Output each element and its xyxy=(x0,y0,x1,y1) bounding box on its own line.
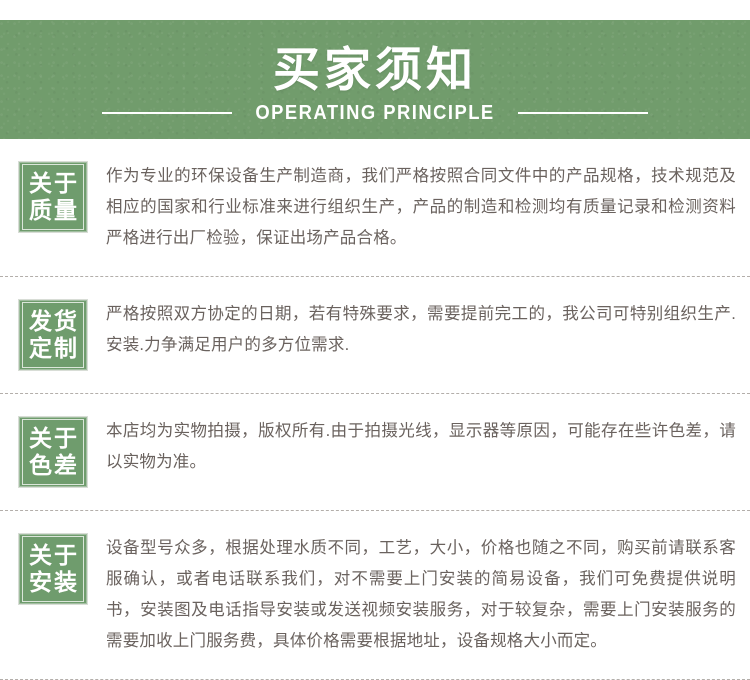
notice-text-quality: 作为专业的环保设备生产制造商，我们严格按照合同文件中的产品规格，技术规范及相应的… xyxy=(88,161,736,254)
badge-label-line2: 色差 xyxy=(27,452,79,479)
notice-row-installation: 关于 安装 设备型号众多，根据处理水质不同，工艺，大小，价格也随之不同，购买前请… xyxy=(0,533,750,657)
spacer-after-row-1 xyxy=(0,254,750,276)
badge-label-line1: 关于 xyxy=(27,425,79,452)
subtitle-rule-right xyxy=(518,112,648,114)
notice-row-color: 关于 色差 本店均为实物拍摄，版权所有.由于拍摄光线，显示器等原因，可能存在些许… xyxy=(0,416,750,488)
badge-quality: 关于 质量 xyxy=(18,161,88,233)
notice-row-quality: 关于 质量 作为专业的环保设备生产制造商，我们严格按照合同文件中的产品规格，技术… xyxy=(0,161,750,254)
spacer-after-row-2 xyxy=(0,371,750,393)
badge-inner-color: 关于 色差 xyxy=(22,419,84,485)
notice-text-delivery: 严格按照双方协定的日期，若有特殊要求，需要提前完工的，我公司可特别组织生产.安装… xyxy=(88,299,736,361)
badge-installation: 关于 安装 xyxy=(18,533,88,605)
spacer-before-row-2 xyxy=(0,277,750,299)
badge-label-line2: 定制 xyxy=(27,335,79,362)
banner-subtitle: OPERATING PRINCIPLE xyxy=(255,101,494,125)
banner-subtitle-group: OPERATING PRINCIPLE xyxy=(0,101,750,125)
subtitle-rule-left xyxy=(102,112,232,114)
badge-delivery: 发货 定制 xyxy=(18,299,88,371)
header-banner: 买家须知 OPERATING PRINCIPLE xyxy=(0,20,750,139)
notice-sections: 关于 质量 作为专业的环保设备生产制造商，我们严格按照合同文件中的产品规格，技术… xyxy=(0,139,750,680)
spacer-after-row-3 xyxy=(0,488,750,510)
badge-color: 关于 色差 xyxy=(18,416,88,488)
badge-inner-delivery: 发货 定制 xyxy=(22,302,84,368)
notice-row-delivery: 发货 定制 严格按照双方协定的日期，若有特殊要求，需要提前完工的，我公司可特别组… xyxy=(0,299,750,371)
badge-label-line1: 关于 xyxy=(27,170,79,197)
buyer-notice-page: 买家须知 OPERATING PRINCIPLE 关于 质量 作为专业的环保设备… xyxy=(0,0,750,674)
badge-label-line1: 发货 xyxy=(27,308,79,335)
badge-inner-installation: 关于 安装 xyxy=(22,536,84,602)
spacer-before-row-3 xyxy=(0,394,750,416)
spacer-after-row-4 xyxy=(0,657,750,679)
badge-label-line2: 质量 xyxy=(27,197,79,224)
badge-label-line1: 关于 xyxy=(27,542,79,569)
spacer-top xyxy=(0,139,750,161)
badge-inner-quality: 关于 质量 xyxy=(22,164,84,230)
notice-text-color: 本店均为实物拍摄，版权所有.由于拍摄光线，显示器等原因，可能存在些许色差，请以实… xyxy=(88,416,736,478)
page-title: 买家须知 xyxy=(0,43,750,97)
notice-text-installation: 设备型号众多，根据处理水质不同，工艺，大小，价格也随之不同，购买前请联系客服确认… xyxy=(88,533,736,657)
badge-label-line2: 安装 xyxy=(27,569,79,596)
spacer-before-row-4 xyxy=(0,511,750,533)
